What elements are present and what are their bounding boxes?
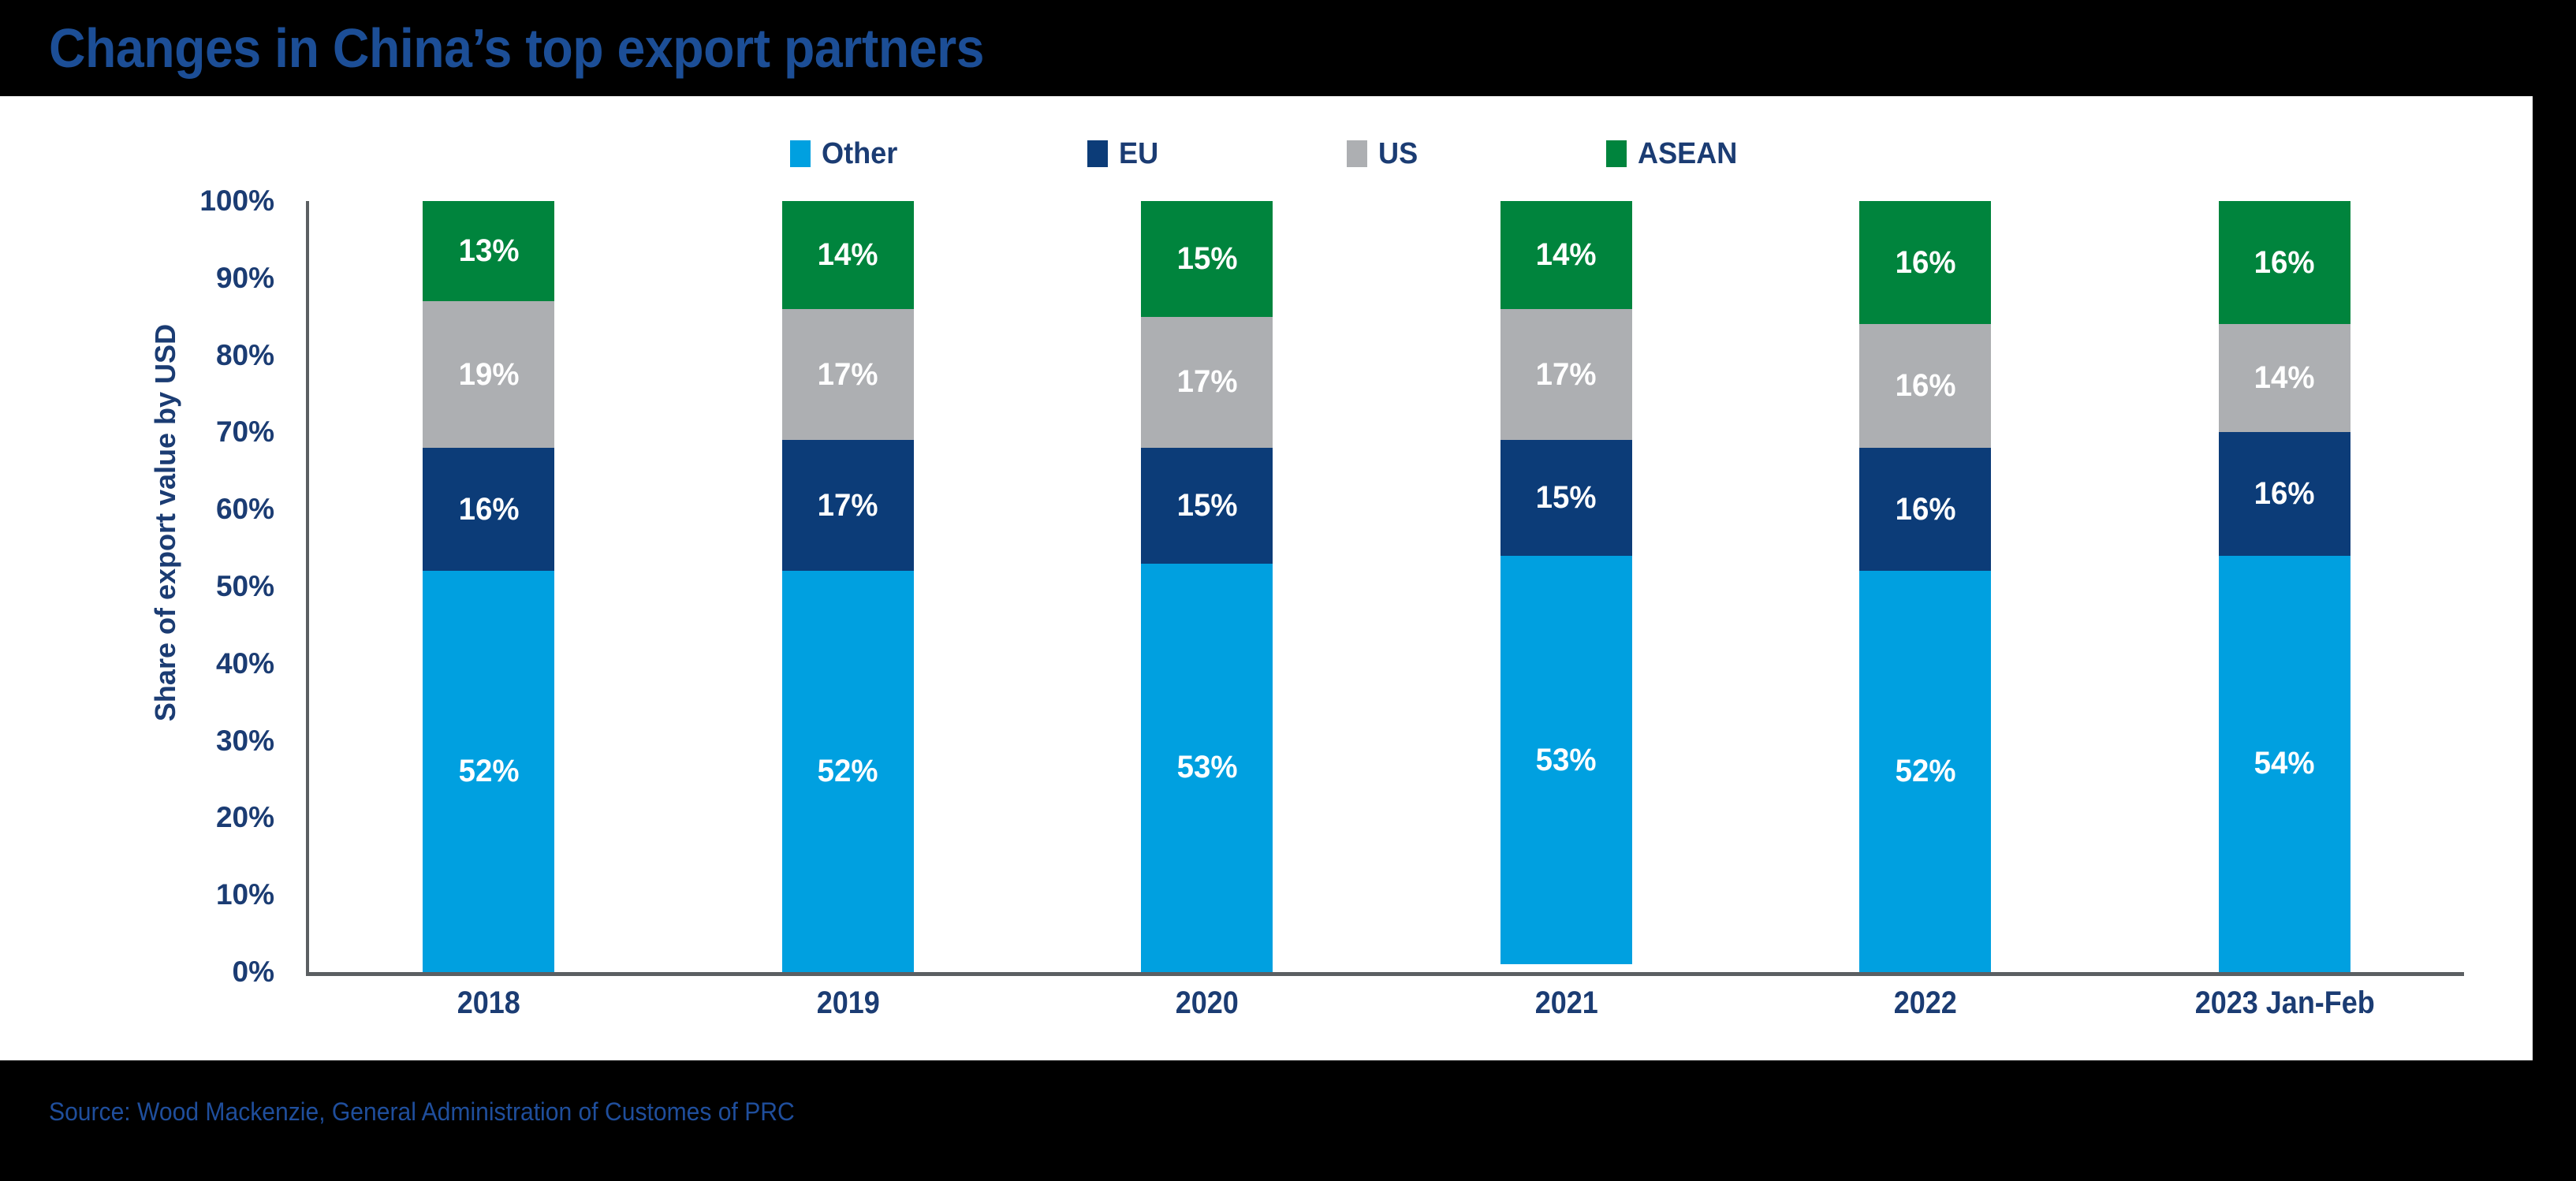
bar-segment-label: 16% xyxy=(1895,245,1955,281)
bar-segment-other[interactable]: 54% xyxy=(2219,556,2350,972)
bar-stack: 15%17%15%53% xyxy=(1141,201,1273,972)
bar-segment-us[interactable]: 16% xyxy=(1859,324,1991,447)
bar-stack: 14%17%17%52% xyxy=(782,201,914,972)
title-band: Changes in China’s top export partners xyxy=(0,0,2576,96)
bar-segment-label: 13% xyxy=(458,233,519,269)
bar-segment-asean[interactable]: 16% xyxy=(2219,201,2350,324)
bar-segment-other[interactable]: 52% xyxy=(423,571,554,972)
chart-canvas: OtherEUUSASEAN Share of export value by … xyxy=(0,96,2533,1060)
bar-segment-label: 16% xyxy=(1895,368,1955,404)
y-axis-tick-label: 40% xyxy=(216,647,274,680)
bar-column-2023-Jan-Feb[interactable]: 16%14%16%54% xyxy=(2105,201,2465,972)
bar-segment-label: 14% xyxy=(1536,237,1597,273)
bar-segment-asean[interactable]: 13% xyxy=(423,201,554,301)
bar-segment-label: 19% xyxy=(458,357,519,393)
bar-segment-other[interactable]: 52% xyxy=(782,571,914,972)
y-axis-tick-label: 50% xyxy=(216,570,274,603)
y-axis-tick-label: 10% xyxy=(216,878,274,911)
bar-segment-label: 17% xyxy=(1536,357,1597,393)
bar-group: 13%19%16%52%14%17%17%52%15%17%15%53%14%1… xyxy=(309,201,2464,972)
bar-segment-eu[interactable]: 15% xyxy=(1500,440,1632,556)
x-axis-line xyxy=(306,972,2464,976)
y-axis-tick-label: 70% xyxy=(216,415,274,449)
bar-segment-other[interactable]: 53% xyxy=(1500,556,1632,964)
y-axis-tick-label: 30% xyxy=(216,725,274,758)
bar-stack: 16%14%16%54% xyxy=(2219,201,2350,972)
bar-segment-asean[interactable]: 15% xyxy=(1141,201,1273,317)
bar-segment-label: 14% xyxy=(2254,360,2315,396)
bar-segment-label: 16% xyxy=(2254,476,2315,512)
bar-segment-label: 17% xyxy=(818,357,878,393)
bar-segment-asean[interactable]: 14% xyxy=(1500,201,1632,309)
x-axis-tick-label: 2020 xyxy=(1046,985,1369,1049)
y-axis-tick-label: 90% xyxy=(216,262,274,295)
bar-stack: 13%19%16%52% xyxy=(423,201,554,972)
x-axis-tick-label: 2019 xyxy=(686,985,1009,1049)
bar-segment-us[interactable]: 19% xyxy=(423,301,554,448)
bar-stack: 16%16%16%52% xyxy=(1859,201,1991,972)
plot-area: Share of export value by USD 100%90%80%7… xyxy=(0,96,2533,1060)
source-band: Source: Wood Mackenzie, General Administ… xyxy=(0,1060,2576,1181)
bar-segment-label: 53% xyxy=(1536,743,1597,778)
x-axis-tick-label: 2018 xyxy=(327,985,651,1049)
bar-segment-label: 17% xyxy=(818,488,878,523)
bar-segment-label: 53% xyxy=(1176,750,1237,785)
bar-column-2021[interactable]: 14%17%15%53% xyxy=(1387,201,1747,972)
source-note: Source: Wood Mackenzie, General Administ… xyxy=(49,1097,795,1127)
bar-segment-us[interactable]: 14% xyxy=(2219,324,2350,432)
bar-segment-label: 52% xyxy=(1895,754,1955,789)
bar-segment-asean[interactable]: 14% xyxy=(782,201,914,309)
bar-segment-label: 52% xyxy=(458,754,519,789)
bar-stack: 14%17%15%53% xyxy=(1500,201,1632,972)
bar-segment-label: 17% xyxy=(1176,364,1237,400)
bar-segment-us[interactable]: 17% xyxy=(1500,309,1632,440)
bar-segment-label: 16% xyxy=(2254,245,2315,281)
bar-segment-asean[interactable]: 16% xyxy=(1859,201,1991,324)
bar-segment-other[interactable]: 52% xyxy=(1859,571,1991,972)
bar-segment-label: 54% xyxy=(2254,746,2315,781)
bar-segment-eu[interactable]: 16% xyxy=(423,448,554,571)
bar-column-2020[interactable]: 15%17%15%53% xyxy=(1027,201,1387,972)
chart-frame: Changes in China’s top export partners O… xyxy=(0,0,2576,1181)
y-axis-tick-label: 0% xyxy=(233,956,274,989)
bar-segment-us[interactable]: 17% xyxy=(1141,317,1273,448)
y-axis-tick-label: 60% xyxy=(216,493,274,526)
y-axis-tick-label: 100% xyxy=(199,184,274,218)
x-axis-tick-label: 2023 Jan-Feb xyxy=(2123,985,2446,1049)
bar-segment-eu[interactable]: 16% xyxy=(1859,448,1991,571)
bar-segment-eu[interactable]: 16% xyxy=(2219,432,2350,555)
x-axis-tick-label: 2022 xyxy=(1764,985,2087,1049)
x-axis-ticks: 201820192020202120222023 Jan-Feb xyxy=(309,985,2464,1049)
bar-segment-label: 14% xyxy=(818,237,878,273)
y-axis-ticks: 100%90%80%70%60%50%40%30%20%10%0% xyxy=(150,201,292,972)
x-axis-tick-label: 2021 xyxy=(1404,985,1728,1049)
y-axis-tick-label: 80% xyxy=(216,339,274,372)
bar-segment-label: 16% xyxy=(458,492,519,527)
y-axis-tick-label: 20% xyxy=(216,801,274,834)
bar-segment-label: 16% xyxy=(1895,492,1955,527)
bar-segment-label: 15% xyxy=(1176,241,1237,277)
bar-segment-label: 52% xyxy=(818,754,878,789)
bar-column-2019[interactable]: 14%17%17%52% xyxy=(669,201,1028,972)
bar-segment-eu[interactable]: 15% xyxy=(1141,448,1273,564)
bar-column-2018[interactable]: 13%19%16%52% xyxy=(309,201,669,972)
bar-segment-other[interactable]: 53% xyxy=(1141,564,1273,972)
bar-column-2022[interactable]: 16%16%16%52% xyxy=(1746,201,2105,972)
bar-segment-us[interactable]: 17% xyxy=(782,309,914,440)
bar-segment-eu[interactable]: 17% xyxy=(782,440,914,571)
bar-segment-label: 15% xyxy=(1536,480,1597,516)
page-title: Changes in China’s top export partners xyxy=(49,17,984,80)
bar-segment-label: 15% xyxy=(1176,488,1237,523)
